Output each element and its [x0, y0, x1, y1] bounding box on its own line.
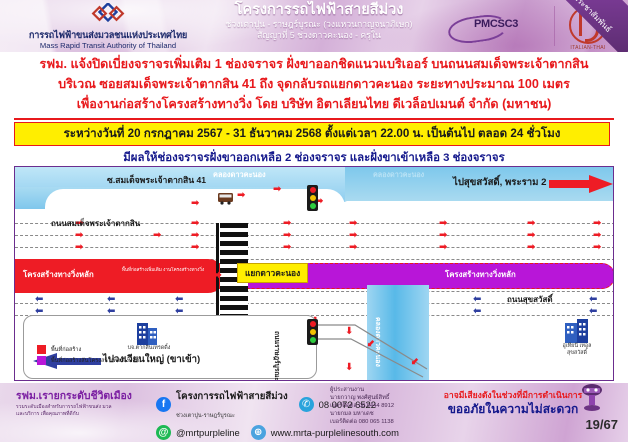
facebook-page-name: โครงการรถไฟฟ้าสายสีม่วง: [176, 391, 288, 402]
line-icon: @: [156, 425, 171, 440]
announcement-page: การรถไฟฟ้าขนส่งมวลชนแห่งประเทศไทย Mass R…: [0, 0, 628, 442]
mrta-logo-icon: [91, 3, 125, 29]
construction-zone-note: พื้นที่ก่อสร้างเพิ่มเติม งานโครงสร้างทาง…: [107, 267, 219, 273]
contact-title: ผู้ประสานงาน: [330, 386, 440, 394]
building-right-line-2: สุขสวัสดิ์: [567, 350, 587, 356]
schedule-banner: ระหว่างวันที่ 20 กรกฎาคม 2567 - 31 ธันวา…: [14, 122, 610, 146]
mascot-icon: [574, 383, 610, 417]
outbound-direction-label: ไปสุขสวัสดิ์, พระราม 2: [453, 175, 546, 190]
guideway-label-left: โครงสร้างทางวิ่งหลัก: [23, 269, 94, 281]
legend-label-construction: พื้นที่ก่อสร้าง: [51, 346, 81, 354]
notice-text-block: รฟม. แจ้งปิดเบี่ยงจราจรเพิ่มเติม 1 ช่องจ…: [0, 54, 628, 114]
mrta-logo-block: การรถไฟฟ้าขนส่งมวลชนแห่งประเทศไทย Mass R…: [8, 3, 208, 50]
vertical-road-label: ถนนราษฎร์บูรณะ: [272, 331, 283, 381]
project-subtitle-2: สัญญาที่ 5 ช่วงดาวคะนอง - ครุใน: [208, 30, 430, 41]
vehicle-icon: [217, 191, 235, 210]
traffic-light-icon: [307, 319, 318, 345]
line-id: @mrtpurpleline: [176, 427, 240, 438]
building-right-label: อู่เทียนี เทอูล สุขสวัสดิ์: [539, 343, 614, 356]
footer-brand: รฟม.เรายกระดับชีวิตเมือง รวมระดับเมืองสำ…: [16, 387, 152, 418]
legend-item: พื้นที่ก่อสร้าง: [37, 345, 139, 354]
legend-swatch-construction: [37, 345, 46, 354]
lane-effect-text: มีผลให้ช่องจราจรฝั่งขาออกเหลือ 2 ช่องจรา…: [123, 152, 504, 164]
bottom-road-label: ถนนสุขสวัสดิ์: [507, 293, 553, 306]
schedule-date-range: ระหว่างวันที่ 20 กรกฎาคม 2567 - 31 ธันวา…: [64, 125, 561, 143]
pmcsc-label: PMCSC3: [474, 18, 518, 30]
guideway-label-right: โครงสร้างทางวิ่งหลัก: [445, 269, 516, 281]
notice-line-1: รฟม. แจ้งปิดเบี่ยงจราจรเพิ่มเติม 1 ช่องจ…: [0, 54, 628, 74]
lane-effect-block: มีผลให้ช่องจราจรฝั่งขาออกเหลือ 2 ช่องจรา…: [0, 148, 628, 167]
lane-divider: [15, 247, 614, 248]
phone-icon: ✆: [299, 397, 314, 412]
canal-right-label: คลองดาวคะนอง: [373, 170, 424, 181]
facebook-icon: f: [156, 397, 171, 412]
footer-contact-block: ผู้ประสานงาน นายกวาญ พงศ์ศูนย์สิทธิ์ เบอ…: [330, 386, 440, 426]
main-road-label: ถนนสมเด็จพระเจ้าตากสิน: [51, 217, 140, 230]
pmcsc-logo-icon: PMCSC3: [448, 14, 548, 40]
apology-line-2: ขออภัยในความไม่สะดวก: [440, 401, 586, 417]
page-footer: รฟม.เรายกระดับชีวิตเมือง รวมระดับเมืองสำ…: [0, 383, 628, 442]
legend-swatch-guideway: [37, 356, 46, 365]
building-icon: [561, 317, 593, 343]
project-title: โครงการรถไฟฟ้าสายสีม่วง: [208, 2, 430, 19]
canal-top-label: คลองดาวคะนอง: [213, 169, 266, 181]
contact-1-name: นายกวาญ พงศ์ศูนย์สิทธิ์: [330, 394, 440, 402]
contact-2-phone: เบอร์ติดต่อ 080 065 1138: [330, 418, 440, 426]
traffic-light-icon: [307, 185, 318, 211]
contact-1-phone: เบอร์ติดต่อ 08 9444 8912: [330, 402, 440, 410]
divider-rule: [14, 118, 614, 120]
mrta-name-th: การรถไฟฟ้าขนส่งมวลชนแห่งประเทศไทย: [8, 30, 208, 41]
mrta-name-en: Mass Rapid Transit Authority of Thailand: [8, 41, 208, 50]
contact-2-name: นายกมล มหาเดช: [330, 410, 440, 418]
traffic-diversion-map: ซ.สมเด็จพระเจ้าตากสิน 41 คลองดาวคะนอง คล…: [14, 166, 614, 381]
legend-label-guideway: พื้นที่ก่อสร้างสันโครงสร้างทางวิ่งหลัก: [51, 357, 139, 365]
facebook-page-sub: ช่วงเตาปูน-ราษฎร์บูรณะ: [176, 413, 235, 419]
globe-icon: ⊕: [251, 425, 266, 440]
website-url: www.mrta-purplelinesouth.com: [271, 427, 399, 438]
logo-divider: [554, 6, 555, 46]
lane-divider: [15, 235, 614, 236]
project-subtitle-1: ช่วงเตาปูน - ราษฎร์บูรณะ (วงแหวนกาญจนาภิ…: [208, 19, 430, 30]
notice-line-3: เพื่องานก่อสร้างโครงสร้างทางวิ่ง โดย บริ…: [0, 94, 628, 114]
building-right-line-1: อู่เทียนี เทอูล: [563, 343, 592, 349]
apology-line-1: อาจมีเสียงดังในช่วงที่มีการดำเนินการ: [440, 389, 586, 401]
page-header: การรถไฟฟ้าขนส่งมวลชนแห่งประเทศไทย Mass R…: [0, 0, 628, 52]
intersection-label: แยกดาวคะนอง: [237, 263, 308, 283]
soi-label: ซ.สมเด็จพระเจ้าตากสิน 41: [107, 173, 206, 187]
map-legend: พื้นที่ก่อสร้าง พื้นที่ก่อสร้างสันโครงสร…: [37, 345, 139, 367]
notice-line-2: บริเวณ ซอยสมเด็จพระเจ้าตากสิน 41 ถึง จุด…: [0, 74, 628, 94]
itd-label: ITALIAN-THAI: [564, 45, 612, 51]
footer-apology-block: อาจมีเสียงดังในช่วงที่มีการดำเนินการ ขออ…: [440, 389, 586, 417]
building-icon: [131, 319, 163, 345]
footer-brand-sub-1: รวมระดับเมืองสำหรับการรถไฟฟ้าขนส่ง มวล: [16, 404, 152, 411]
legend-item: พื้นที่ก่อสร้างสันโครงสร้างทางวิ่งหลัก: [37, 356, 139, 365]
project-title-block: โครงการรถไฟฟ้าสายสีม่วง ช่วงเตาปูน - ราษ…: [208, 2, 430, 41]
line-web-row[interactable]: @ @mrtpurpleline ⊕ www.mrta-purplelineso…: [156, 425, 426, 440]
page-number: 19/67: [585, 417, 618, 432]
footer-brand-sub-2: และบริการ เพื่อคุณภาพที่ดีกับ: [16, 411, 152, 418]
partner-logos: PMCSC3 ITALIAN-THAI ประชาสัมพันธ์: [434, 0, 628, 52]
footer-brand-main: รฟม.เรายกระดับชีวิตเมือง: [16, 387, 152, 404]
outbound-direction-arrow: [549, 175, 613, 193]
